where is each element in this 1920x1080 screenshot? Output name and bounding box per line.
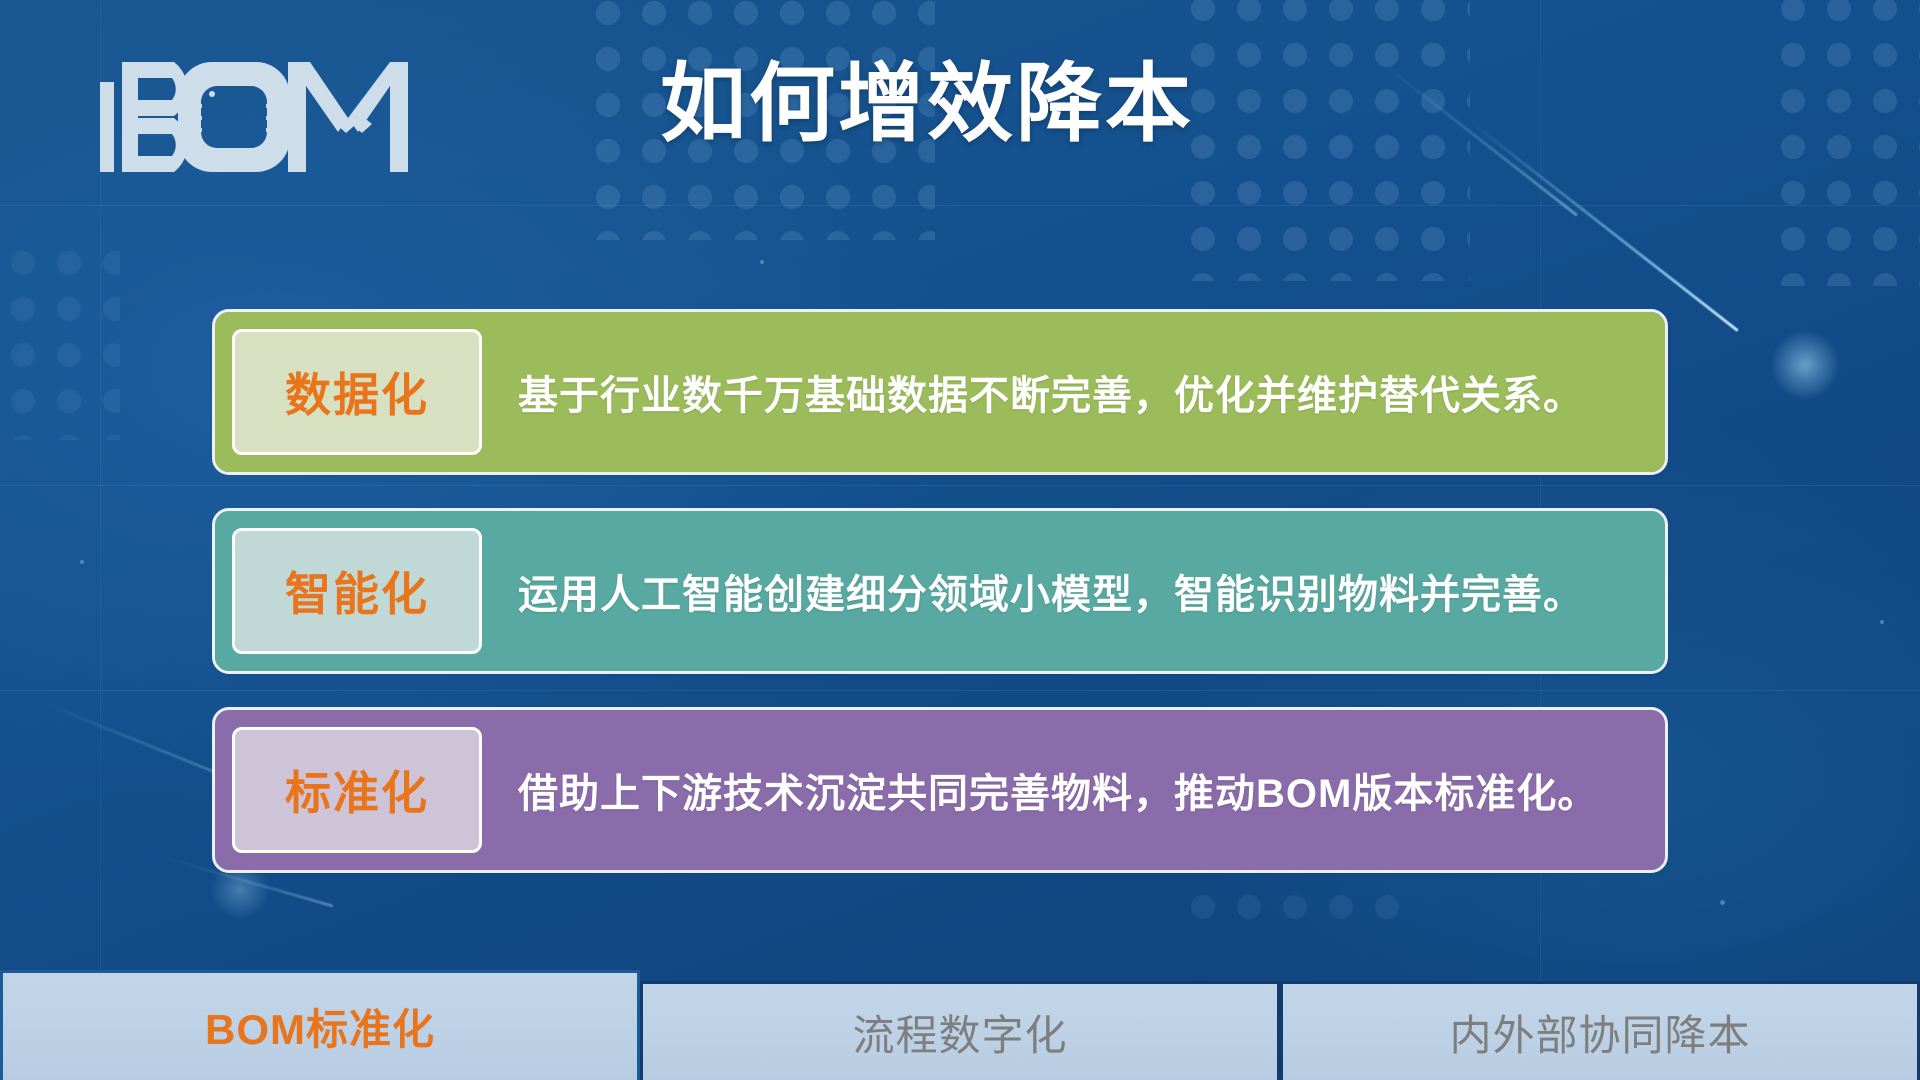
strategy-row-standardization[interactable]: 标准化 借助上下游技术沉淀共同完善物料，推动BOM版本标准化。 bbox=[215, 710, 1665, 870]
bottom-tab-bar: BOM标准化 流程数字化 内外部协同降本 bbox=[0, 958, 1920, 1080]
strategy-row-datafication[interactable]: 数据化 基于行业数千万基础数据不断完善，优化并维护替代关系。 bbox=[215, 312, 1665, 472]
strategy-row-intelligence[interactable]: 智能化 运用人工智能创建细分领域小模型，智能识别物料并完善。 bbox=[215, 511, 1665, 671]
strategy-description: 运用人工智能创建细分领域小模型，智能识别物料并完善。 bbox=[518, 562, 1584, 620]
strategy-badge-label: 标准化 bbox=[285, 757, 429, 823]
background-speck bbox=[80, 560, 84, 564]
strategy-badge-label: 智能化 bbox=[285, 558, 429, 624]
tab-label: 流程数字化 bbox=[852, 1002, 1067, 1063]
tab-label: 内外部协同降本 bbox=[1449, 1002, 1750, 1063]
slide-header: 如何增效降本 bbox=[0, 0, 1920, 230]
bom-logo bbox=[100, 62, 490, 172]
tab-process-digitalization[interactable]: 流程数字化 bbox=[640, 981, 1280, 1080]
strategy-rows: 数据化 基于行业数千万基础数据不断完善，优化并维护替代关系。 智能化 运用人工智… bbox=[215, 312, 1665, 870]
tab-internal-external-collaboration[interactable]: 内外部协同降本 bbox=[1280, 981, 1920, 1080]
strategy-badge: 智能化 bbox=[232, 528, 482, 654]
strategy-badge-label: 数据化 bbox=[285, 359, 429, 425]
strategy-badge: 标准化 bbox=[232, 727, 482, 853]
dot-grid-pattern bbox=[0, 240, 120, 440]
background-speck bbox=[1720, 900, 1725, 905]
tab-bom-standardization[interactable]: BOM标准化 bbox=[0, 970, 640, 1080]
strategy-description: 基于行业数千万基础数据不断完善，优化并维护替代关系。 bbox=[518, 363, 1584, 421]
page-title: 如何增效降本 bbox=[660, 57, 1194, 152]
tab-label: BOM标准化 bbox=[205, 996, 435, 1057]
bom-chip-logo-icon bbox=[100, 62, 490, 172]
strategy-description: 借助上下游技术沉淀共同完善物料，推动BOM版本标准化。 bbox=[518, 761, 1598, 819]
strategy-badge: 数据化 bbox=[232, 329, 482, 455]
background-speck bbox=[1880, 620, 1884, 624]
comet-glow bbox=[1770, 330, 1840, 400]
background-speck bbox=[760, 260, 764, 264]
